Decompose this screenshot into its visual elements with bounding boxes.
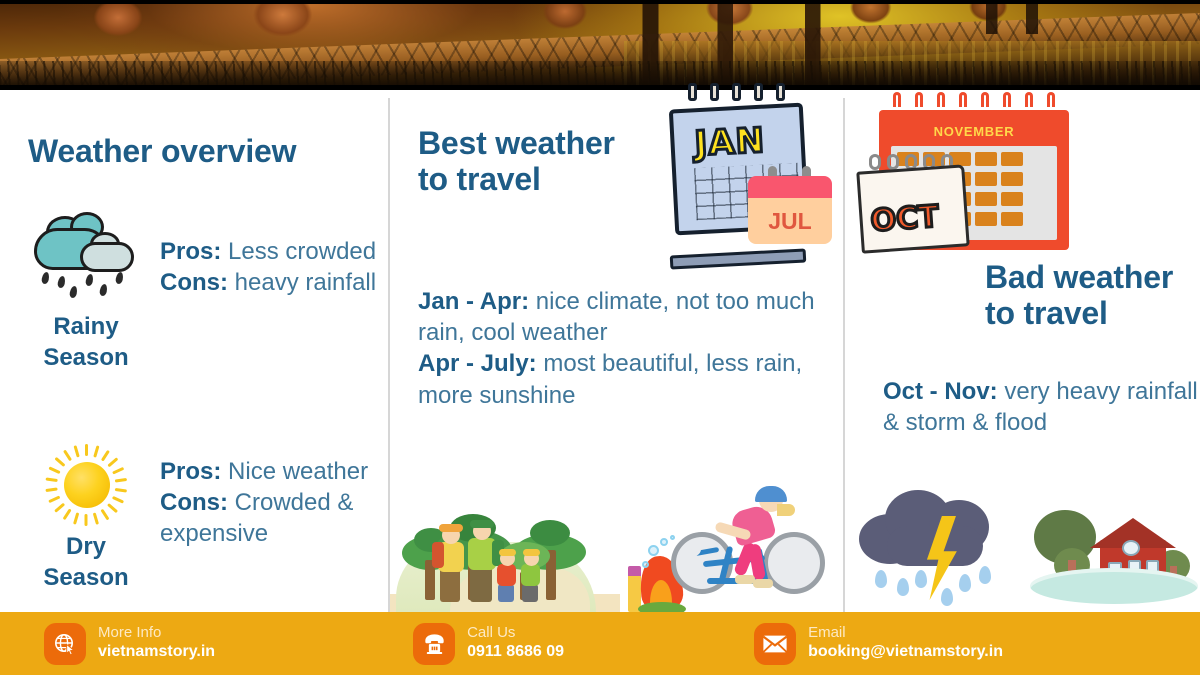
best-weather-range-2: Apr - July: bbox=[418, 350, 537, 377]
hikers-family-illustration bbox=[436, 510, 546, 602]
calendar-day-cell bbox=[1001, 212, 1023, 226]
jan-calendar-icon: JAN JUL bbox=[662, 92, 830, 260]
best-weather-illustration bbox=[390, 472, 843, 612]
best-weather-entry-2: Apr - July: most beautiful, less rain, m… bbox=[418, 348, 838, 410]
rainy-icon-cell: Rainy Season bbox=[12, 220, 160, 373]
calendar-day-cell bbox=[1001, 192, 1023, 206]
footer-more-info-value[interactable]: vietnamstory.in bbox=[98, 642, 215, 663]
dry-cons-line: Cons: Crowded & expensive bbox=[160, 487, 388, 549]
bad-weather-entry-1: Oct - Nov: very heavy rainfall & storm &… bbox=[883, 376, 1200, 438]
banner-top-edge bbox=[0, 0, 1200, 4]
sun-ray bbox=[54, 503, 65, 513]
footer-call-us-text: Call Us 0911 8686 09 bbox=[467, 624, 564, 663]
footer-call-us-value[interactable]: 0911 8686 09 bbox=[467, 642, 564, 663]
contact-footer-bar: More Info vietnamstory.in Call Us 0911 8… bbox=[0, 612, 1200, 675]
best-weather-range-1: Jan - Apr: bbox=[418, 288, 529, 315]
column-weather-overview: Weather overview bbox=[0, 90, 388, 612]
oct-calendar-month-label: OCT bbox=[870, 199, 940, 239]
jan-calendar-month-label: JAN bbox=[694, 121, 766, 165]
rainy-cons-line: Cons: heavy rainfall bbox=[160, 267, 388, 298]
dry-cons-label: Cons: bbox=[160, 489, 228, 516]
footer-call-us-label: Call Us bbox=[467, 624, 564, 642]
telephone-icon bbox=[413, 623, 455, 665]
bad-weather-illustration bbox=[845, 472, 1200, 610]
sun-icon bbox=[12, 440, 160, 526]
sun-ray bbox=[107, 503, 118, 513]
dry-pros-line: Pros: Nice weather bbox=[160, 456, 388, 487]
sun-ray bbox=[107, 457, 118, 467]
sun-ray bbox=[93, 445, 99, 457]
oct-calendar-icon: OCT bbox=[853, 158, 971, 256]
calendar-day-cell bbox=[1001, 152, 1023, 166]
best-weather-title: Best weather to travel bbox=[418, 126, 615, 198]
flooded-house-illustration bbox=[1030, 492, 1198, 604]
sun-ray bbox=[85, 514, 88, 526]
content-area: Weather overview bbox=[0, 90, 1200, 612]
dry-icon-cell: Dry Season bbox=[12, 440, 160, 593]
envelope-icon bbox=[754, 623, 796, 665]
jul-calendar-icon: JUL bbox=[748, 170, 832, 244]
dry-text-cell: Pros: Nice weather Cons: Crowded & expen… bbox=[160, 440, 388, 550]
rain-cloud-icon bbox=[12, 220, 160, 306]
season-row-dry: Dry Season Pros: Nice weather Cons: Crow… bbox=[12, 440, 388, 593]
rainy-pros-line: Pros: Less crowded bbox=[160, 236, 388, 267]
rainy-pros-text: Less crowded bbox=[221, 238, 376, 265]
footer-more-info-text: More Info vietnamstory.in bbox=[98, 624, 215, 663]
rainy-text-cell: Pros: Less crowded Cons: heavy rainfall bbox=[160, 220, 388, 298]
sun-ray bbox=[48, 496, 60, 503]
banner-photo-image bbox=[0, 0, 1200, 90]
calendar-day-cell bbox=[975, 152, 997, 166]
dry-season-label-line2: Season bbox=[12, 563, 160, 594]
footer-more-info-label: More Info bbox=[98, 624, 215, 642]
bad-weather-range-1: Oct - Nov: bbox=[883, 378, 998, 405]
footer-email[interactable]: Email booking@vietnamstory.in bbox=[754, 623, 1003, 665]
sun-ray bbox=[101, 509, 110, 520]
sun-ray bbox=[45, 478, 57, 482]
footer-call-us[interactable]: Call Us 0911 8686 09 bbox=[413, 623, 564, 665]
column-bad-weather: NOVEMBER OCT Bad weather to travel bbox=[845, 90, 1200, 612]
sun-ray bbox=[73, 445, 79, 457]
november-calendar-month-label: NOVEMBER bbox=[879, 124, 1069, 139]
footer-email-label: Email bbox=[808, 624, 1003, 642]
rainy-cons-label: Cons: bbox=[160, 269, 228, 296]
bad-weather-title: Bad weather to travel bbox=[985, 260, 1173, 332]
dry-pros-label: Pros: bbox=[160, 458, 221, 485]
globe-cursor-icon bbox=[44, 623, 86, 665]
bad-weather-title-line1: Bad weather bbox=[985, 259, 1173, 295]
rainy-cons-text: heavy rainfall bbox=[228, 269, 376, 296]
thunderstorm-illustration bbox=[859, 478, 1019, 610]
footer-more-info[interactable]: More Info vietnamstory.in bbox=[44, 623, 215, 665]
sun-ray bbox=[112, 467, 124, 474]
calendar-day-cell bbox=[975, 192, 997, 206]
bad-weather-body: Oct - Nov: very heavy rainfall & storm &… bbox=[883, 376, 1200, 438]
dry-season-label-line1: Dry bbox=[12, 532, 160, 563]
calendar-day-cell bbox=[975, 172, 997, 186]
rainy-season-label-line2: Season bbox=[12, 343, 160, 374]
footer-email-value[interactable]: booking@vietnamstory.in bbox=[808, 642, 1003, 663]
best-weather-title-line1: Best weather bbox=[418, 125, 615, 161]
sun-ray bbox=[101, 450, 110, 461]
best-weather-entry-1: Jan - Apr: nice climate, not too much ra… bbox=[418, 286, 838, 348]
sun-ray bbox=[63, 509, 72, 520]
sun-ray bbox=[115, 488, 127, 492]
infographic-page: Weather overview bbox=[0, 0, 1200, 675]
sun-ray bbox=[93, 512, 99, 524]
sun-ray bbox=[48, 467, 60, 474]
bad-weather-title-line2: to travel bbox=[985, 296, 1108, 332]
footer-email-text: Email booking@vietnamstory.in bbox=[808, 624, 1003, 663]
best-weather-title-line2: to travel bbox=[418, 161, 541, 197]
sun-ray bbox=[63, 450, 72, 461]
sun-ray bbox=[45, 488, 57, 492]
cyclist-illustration bbox=[667, 476, 837, 598]
season-row-rainy: Rainy Season Pros: Less crowded Cons: he… bbox=[12, 220, 388, 373]
weather-overview-title: Weather overview bbox=[28, 134, 296, 170]
sun-ray bbox=[115, 478, 127, 482]
calendar-day-cell bbox=[1001, 172, 1023, 186]
november-calendar-icon: NOVEMBER OCT bbox=[867, 100, 1067, 270]
photo-people-silhouettes-layer bbox=[960, 4, 1104, 35]
calendar-day-cell bbox=[975, 212, 997, 226]
rainy-pros-label: Pros: bbox=[160, 238, 221, 265]
dry-pros-text: Nice weather bbox=[221, 458, 368, 485]
sun-ray bbox=[112, 496, 124, 503]
sun-ray bbox=[54, 457, 65, 467]
rainy-season-label-line1: Rainy bbox=[12, 312, 160, 343]
column-best-weather: Best weather to travel JAN bbox=[390, 90, 843, 612]
sun-ray bbox=[73, 512, 79, 524]
jul-calendar-month-label: JUL bbox=[748, 208, 832, 235]
best-weather-body: Jan - Apr: nice climate, not too much ra… bbox=[418, 286, 838, 411]
sun-ray bbox=[85, 444, 88, 456]
header-photo-banner bbox=[0, 0, 1200, 90]
